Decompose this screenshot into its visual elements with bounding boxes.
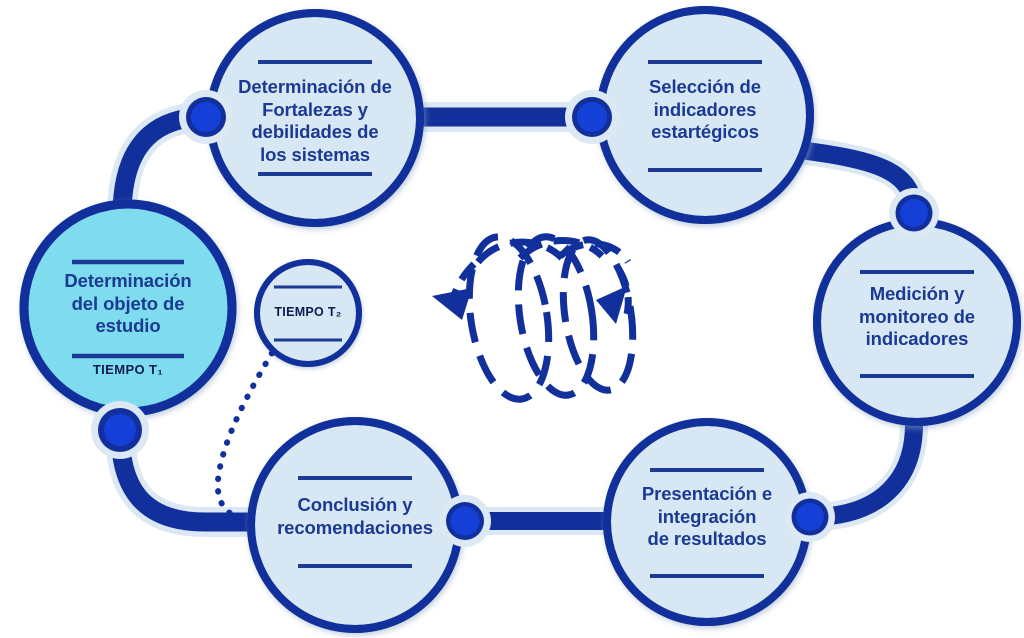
connector-node-bottom-right[interactable] bbox=[785, 492, 835, 542]
time-marker-tiempo-t2[interactable] bbox=[257, 262, 359, 364]
node-medicion-monitoreo[interactable] bbox=[817, 222, 1017, 422]
spiral-left-arrowhead bbox=[432, 288, 472, 320]
process-cycle-diagram: Determinación del objeto de estudio TIEM… bbox=[0, 0, 1024, 638]
node-fortalezas-debilidades[interactable] bbox=[210, 13, 420, 223]
connector-node-bottom-mid[interactable] bbox=[439, 495, 491, 547]
node-presentacion-integracion[interactable] bbox=[607, 422, 807, 622]
spiral-loop-1 bbox=[459, 231, 560, 405]
spiral-loop-3 bbox=[554, 235, 643, 395]
spiral-right-arrowhead bbox=[596, 286, 627, 324]
connector-node-top-left[interactable] bbox=[179, 90, 233, 144]
connector-node-left-lower[interactable] bbox=[91, 401, 149, 459]
node-conclusion-recomendaciones[interactable] bbox=[251, 421, 459, 629]
diagram-canvas bbox=[0, 0, 1024, 638]
node-determinacion-objeto[interactable] bbox=[24, 204, 232, 412]
connector-node-top-right[interactable] bbox=[565, 90, 619, 144]
connector-node-right-upper[interactable] bbox=[889, 188, 939, 238]
node-seleccion-indicadores[interactable] bbox=[600, 10, 810, 220]
